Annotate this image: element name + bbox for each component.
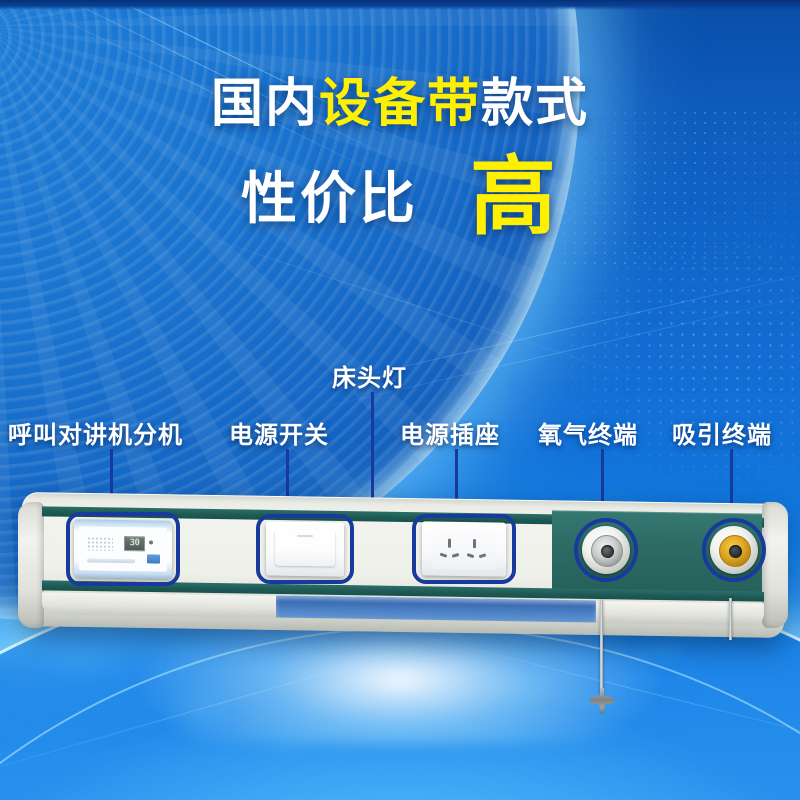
callout-label-power-socket: 电源插座: [400, 415, 500, 450]
highlight-box-power-socket: [412, 514, 516, 584]
highlight-box-intercom: [66, 512, 180, 586]
panel-end-cap-left: [18, 502, 44, 628]
dot-pattern-upper: [560, 108, 800, 268]
poster-canvas: 国内设备带款式 性价比高 呼叫对讲机分机 电源开关 床头灯 电源插座 氧气终端 …: [0, 0, 800, 800]
callout-label-intercom: 呼叫对讲机分机: [8, 415, 183, 450]
callout-label-power-switch: 电源开关: [229, 415, 329, 450]
panel-end-cap-right: [762, 502, 788, 628]
highlight-circle-suction: [702, 518, 766, 582]
callout-label-oxygen: 氧气终端: [538, 415, 638, 450]
dot-pattern-right: [380, 230, 800, 520]
bed-head-unit-panel: 30: [22, 498, 784, 632]
highlight-circle-oxygen: [574, 518, 638, 582]
highlight-box-power-switch: [256, 514, 354, 584]
callout-label-suction: 吸引终端: [672, 415, 772, 450]
top-edge-shade: [0, 0, 800, 10]
suction-hose-cord: [729, 598, 732, 640]
callout-label-bed-lamp: 床头灯: [332, 358, 407, 393]
oxygen-hose-cord: [600, 600, 603, 696]
